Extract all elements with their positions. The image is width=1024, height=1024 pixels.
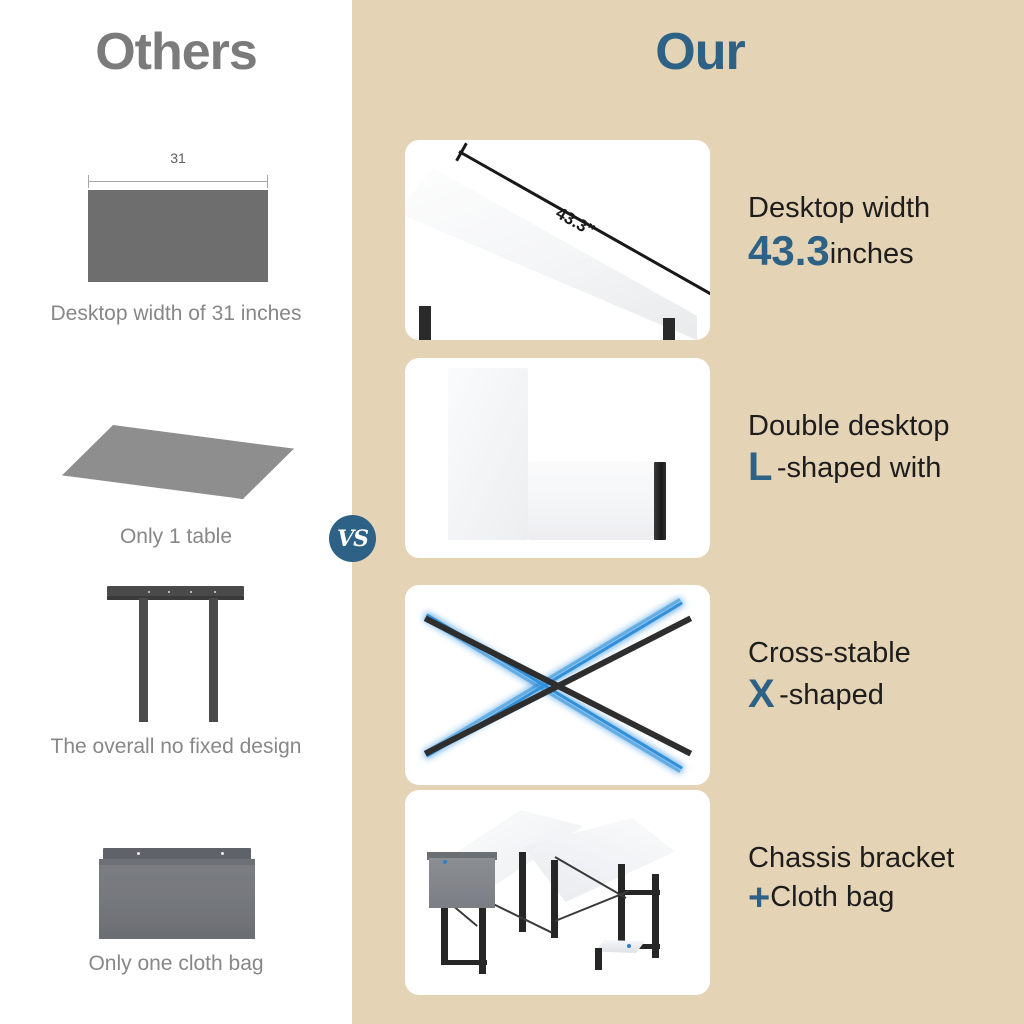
angled-desktop-illustration: 43.3” — [405, 140, 710, 340]
others-item-cloth-bag: Only one cloth bag — [0, 840, 352, 976]
x-brace-illustration — [405, 585, 710, 785]
l-shaped-desktop-illustration — [405, 358, 710, 558]
our-line1-4: Chassis bracket — [748, 842, 954, 875]
bag-screw-dot — [221, 852, 224, 855]
our-line1-1: Desktop width — [748, 192, 930, 225]
tabletop-surface — [62, 425, 294, 499]
full-desk-illustration — [405, 790, 710, 995]
our-card-3 — [405, 585, 710, 785]
highlight-rest-4: Cloth bag — [770, 881, 894, 913]
highlight-rest-2: -shaped with — [777, 452, 941, 484]
cloth-bag-figure — [0, 840, 352, 952]
our-text-3: Cross-stable X -shaped — [748, 637, 911, 717]
page-title-our: Our — [560, 22, 840, 82]
our-row-cross-stable: Cross-stable X -shaped — [405, 585, 1005, 785]
l-desktop-dark-edge — [654, 462, 666, 540]
our-line2-3: X -shaped — [748, 672, 911, 717]
screw-dot — [190, 591, 192, 593]
bag-screw-dot — [137, 852, 140, 855]
width-dimension-figure: 31 — [0, 150, 352, 302]
highlight-value-3: X — [748, 672, 775, 716]
our-line2-4: +Cloth bag — [748, 877, 954, 920]
shelf-leg — [595, 948, 602, 970]
highlight-rest-3: -shaped — [779, 679, 884, 711]
others-caption-4: Only one cloth bag — [0, 952, 352, 976]
desk-leg — [618, 864, 625, 948]
our-text-4: Chassis bracket +Cloth bag — [748, 842, 954, 920]
l-desktop-vertical-panel — [448, 368, 528, 540]
dimension-tick-start — [455, 143, 467, 162]
vs-badge: VS — [329, 515, 376, 562]
screw-dot — [214, 591, 216, 593]
cloth-bag-body — [99, 865, 255, 939]
highlight-value-4: + — [748, 877, 770, 919]
leg-frame-figure — [0, 580, 352, 735]
dimension-cap-right — [267, 175, 268, 188]
comparison-infographic: Others Our 31 Desktop width of 31 inches… — [0, 0, 1024, 1024]
leg-post-right — [209, 598, 218, 722]
our-card-4 — [405, 790, 710, 995]
l-desktop-horizontal-panel — [528, 461, 657, 540]
bottom-shelf — [595, 940, 645, 953]
desk-leg — [419, 306, 431, 340]
dimension-label-43: 43.3” — [552, 203, 598, 241]
cloth-bag — [429, 858, 495, 908]
leg-post-left — [139, 598, 148, 722]
others-item-leg-frame: The overall no fixed design — [0, 580, 352, 759]
our-row-chassis-bracket: Chassis bracket +Cloth bag — [405, 790, 1005, 995]
others-caption-1: Desktop width of 31 inches — [0, 302, 352, 326]
desk-leg — [663, 318, 675, 340]
screw-dot — [168, 591, 170, 593]
page-title-others: Others — [0, 22, 352, 82]
others-item-single-table: Only 1 table — [0, 415, 352, 549]
leg-rail-shadow — [107, 596, 244, 600]
leg-rail — [107, 586, 244, 596]
screw-dot — [148, 591, 150, 593]
others-caption-3: The overall no fixed design — [0, 735, 352, 759]
desktop-surface — [405, 168, 697, 340]
our-text-2: Double desktop L -shaped with — [748, 410, 950, 490]
our-line2-2: L -shaped with — [748, 445, 950, 490]
highlight-value-2: L — [748, 445, 772, 489]
dimension-line — [88, 181, 268, 182]
accent-dot — [443, 860, 447, 864]
our-card-2 — [405, 358, 710, 558]
our-line1-3: Cross-stable — [748, 637, 911, 670]
our-line2-1: 43.3inches — [748, 227, 930, 274]
highlight-rest-1: inches — [830, 238, 914, 270]
our-line1-2: Double desktop — [748, 410, 950, 443]
desk-leg — [551, 860, 558, 938]
single-tabletop-figure — [0, 415, 352, 525]
our-row-double-desktop: Double desktop L -shaped with — [405, 358, 1005, 558]
dimension-cap-left — [88, 175, 89, 188]
gray-desktop-rectangle — [88, 190, 268, 282]
others-item-desktop-width: 31 Desktop width of 31 inches — [0, 150, 352, 326]
our-card-1: 43.3” — [405, 140, 710, 340]
desk-rail — [441, 960, 487, 965]
accent-dot — [627, 944, 631, 948]
others-caption-2: Only 1 table — [0, 525, 352, 549]
our-row-desktop-width: 43.3” Desktop width 43.3inches — [405, 140, 1005, 340]
dimension-label-31: 31 — [88, 150, 268, 166]
our-text-1: Desktop width 43.3inches — [748, 192, 930, 274]
highlight-value-1: 43.3 — [748, 227, 830, 274]
